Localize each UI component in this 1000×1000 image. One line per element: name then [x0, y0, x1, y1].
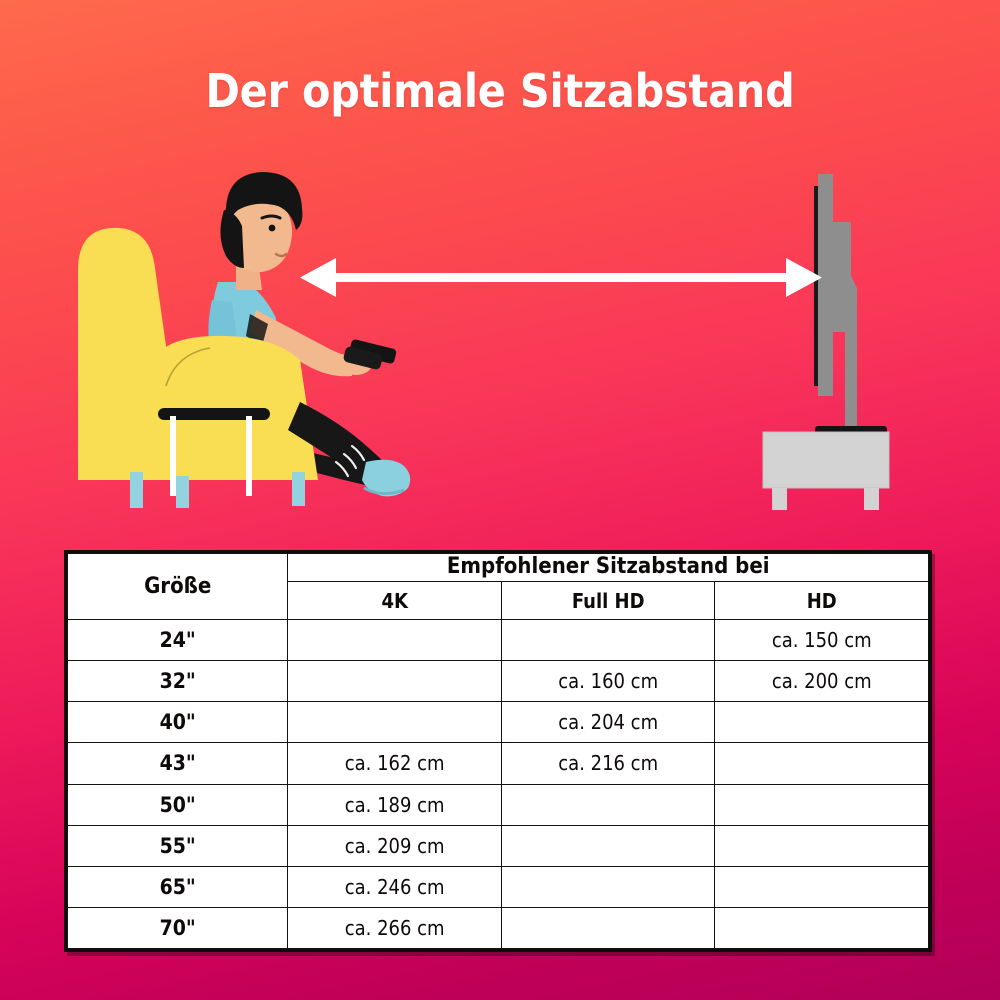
tv-cabinet: [763, 432, 889, 488]
cell-4k: [288, 661, 502, 702]
cell-full-hd: [501, 620, 715, 661]
distance-arrow: [300, 258, 822, 297]
column-header-full-hd: Full HD: [501, 582, 715, 620]
tv-panel-front-edge: [814, 186, 818, 386]
table-row: 32"ca. 160 cmca. 200 cm: [68, 661, 929, 702]
person-eye: [269, 225, 276, 232]
cell-full-hd: [501, 784, 715, 825]
illustration-scene: [0, 150, 1000, 520]
cell-hd: [715, 784, 929, 825]
cell-size: 24": [68, 620, 288, 661]
cell-hd: [715, 907, 929, 948]
cell-size: 70": [68, 907, 288, 948]
cell-4k: [288, 620, 502, 661]
cell-full-hd: ca. 216 cm: [501, 743, 715, 784]
cell-size: 55": [68, 825, 288, 866]
distance-arrow-shaft: [330, 273, 792, 282]
cell-full-hd: ca. 160 cm: [501, 661, 715, 702]
column-header-4k: 4K: [288, 582, 502, 620]
footstool-leg-left: [170, 416, 176, 496]
tv-panel: [818, 174, 833, 396]
table-row: 40"ca. 204 cm: [68, 702, 929, 743]
table-row: 55"ca. 209 cm: [68, 825, 929, 866]
cell-hd: [715, 866, 929, 907]
armchair-with-person-illustration: [78, 172, 410, 508]
table-header-row-group: Größe Empfohlener Sitzabstand bei: [68, 554, 929, 582]
cell-hd: [715, 702, 929, 743]
distance-arrow-head-left: [300, 258, 336, 297]
cell-4k: ca. 266 cm: [288, 907, 502, 948]
table-row: 43"ca. 162 cmca. 216 cm: [68, 743, 929, 784]
table-row: 65"ca. 246 cm: [68, 866, 929, 907]
armchair-front-leg: [292, 472, 305, 506]
cell-full-hd: ca. 204 cm: [501, 702, 715, 743]
column-header-hd: HD: [715, 582, 929, 620]
cell-hd: [715, 743, 929, 784]
tv-cabinet-leg-left: [772, 488, 787, 510]
television-illustration: [763, 174, 889, 510]
cell-hd: ca. 150 cm: [715, 620, 929, 661]
cell-size: 40": [68, 702, 288, 743]
cell-hd: [715, 825, 929, 866]
cell-full-hd: [501, 825, 715, 866]
cell-4k: ca. 246 cm: [288, 866, 502, 907]
tv-stand-column: [845, 340, 857, 430]
table-head: Größe Empfohlener Sitzabstand bei 4K Ful…: [68, 554, 929, 620]
cell-size: 65": [68, 866, 288, 907]
tv-back-housing: [833, 222, 845, 332]
footstool-leg-right: [246, 416, 252, 496]
cell-size: 50": [68, 784, 288, 825]
cell-4k: [288, 702, 502, 743]
column-header-size: Größe: [68, 554, 288, 620]
cell-4k: ca. 189 cm: [288, 784, 502, 825]
armchair-back-leg: [130, 472, 143, 508]
seating-distance-table: Größe Empfohlener Sitzabstand bei 4K Ful…: [64, 550, 932, 952]
cell-full-hd: [501, 866, 715, 907]
tv-cabinet-leg-right: [864, 488, 879, 510]
armchair-front-leg-left: [176, 476, 189, 508]
page-title: Der optimale Sitzabstand: [0, 64, 1000, 118]
table-row: 70"ca. 266 cm: [68, 907, 929, 948]
cell-size: 43": [68, 743, 288, 784]
cell-4k: ca. 162 cm: [288, 743, 502, 784]
table-row: 24"ca. 150 cm: [68, 620, 929, 661]
cell-hd: ca. 200 cm: [715, 661, 929, 702]
cell-size: 32": [68, 661, 288, 702]
cell-full-hd: [501, 907, 715, 948]
table-row: 50"ca. 189 cm: [68, 784, 929, 825]
cell-4k: ca. 209 cm: [288, 825, 502, 866]
column-header-group: Empfohlener Sitzabstand bei: [288, 554, 929, 582]
table-body: 24"ca. 150 cm32"ca. 160 cmca. 200 cm40"c…: [68, 620, 929, 949]
